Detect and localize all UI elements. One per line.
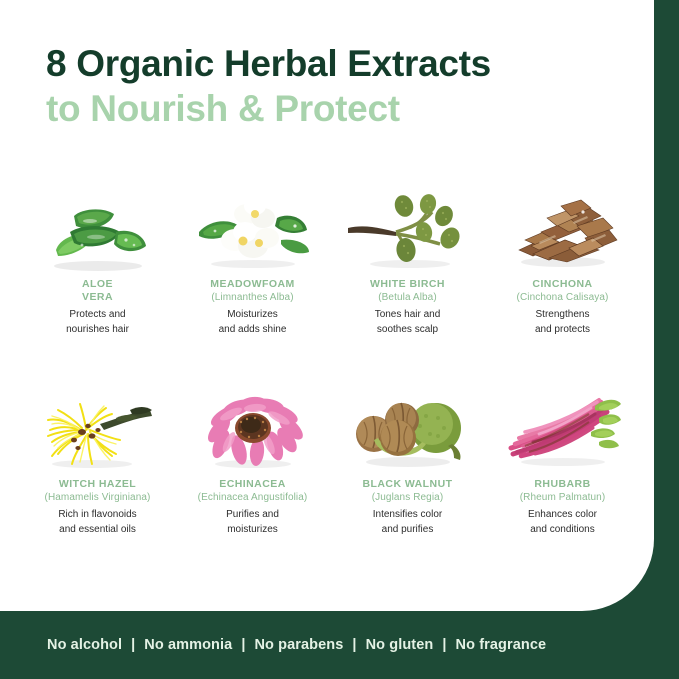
ingredient-desc-line1: Strengthens	[535, 308, 590, 323]
ingredient-name: WHITE BIRCH	[370, 278, 445, 291]
ingredient-description: Enhances color and conditions	[528, 508, 597, 537]
ingredient-card-black-walnut: BLACK WALNUT (Juglans Regia) Intensifies…	[330, 388, 485, 588]
ingredient-card-meadowfoam: MEADOWFOAM (Limnanthes Alba) Moisturizes…	[175, 188, 330, 388]
ingredient-description: Strengthens and protects	[535, 308, 590, 337]
ingredient-desc-line1: Protects and	[66, 308, 129, 323]
ingredient-desc-line1: Tones hair and	[375, 308, 441, 323]
ingredient-card-witch-hazel: WITCH HAZEL (Hamamelis Virginiana) Rich …	[20, 388, 175, 588]
ingredient-name: MEADOWFOAM	[210, 278, 294, 291]
ingredient-latin-name: (Betula Alba)	[378, 291, 437, 304]
claim-item: No parabens	[254, 637, 343, 653]
cinchona-bark-image	[495, 188, 631, 274]
ingredient-desc-line2: and conditions	[528, 523, 597, 538]
witch-hazel-flower-image	[30, 388, 166, 474]
page-header: 8 Organic Herbal Extracts to Nourish & P…	[46, 44, 636, 131]
ingredient-card-echinacea: ECHINACEA (Echinacea Angustifolia) Purif…	[175, 388, 330, 588]
page-subtitle: to Nourish & Protect	[46, 88, 636, 131]
ingredient-card-rhubarb: RHUBARB (Rheum Palmatun) Enhances color …	[485, 388, 640, 588]
ingredient-description: Rich in flavonoids and essential oils	[58, 508, 136, 537]
ingredient-name: WITCH HAZEL	[59, 478, 136, 491]
black-walnut-image	[340, 388, 476, 474]
ingredient-name-line2: VERA	[82, 291, 113, 303]
ingredient-card-aloe-vera: ALOE VERA Protects and nourishes hair	[20, 188, 175, 388]
echinacea-flower-image	[185, 388, 321, 474]
claim-separator: |	[352, 637, 356, 653]
ingredient-desc-line2: moisturizes	[226, 523, 279, 538]
ingredient-latin-name: (Echinacea Angustifolia)	[198, 491, 308, 504]
ingredient-name: RHUBARB	[534, 478, 590, 491]
aloe-vera-leaves-image	[30, 188, 166, 274]
ingredient-name: BLACK WALNUT	[363, 478, 453, 491]
ingredient-description: Purifies and moisturizes	[226, 508, 279, 537]
white-birch-catkins-image	[340, 188, 476, 274]
ingredient-card-cinchona: CINCHONA (Cinchona Calisaya) Strengthens…	[485, 188, 640, 388]
ingredient-latin-name: (Limnanthes Alba)	[211, 291, 293, 304]
ingredient-desc-line2: nourishes hair	[66, 323, 129, 338]
ingredient-desc-line1: Purifies and	[226, 508, 279, 523]
ingredient-desc-line2: soothes scalp	[375, 323, 441, 338]
claim-item: No gluten	[366, 637, 434, 653]
ingredient-latin-name: (Hamamelis Virginiana)	[45, 491, 151, 504]
ingredient-latin-name: (Rheum Palmatun)	[520, 491, 606, 504]
meadowfoam-flower-image	[185, 188, 321, 274]
claim-separator: |	[442, 637, 446, 653]
ingredient-desc-line1: Intensifies color	[373, 508, 442, 523]
ingredient-description: Intensifies color and purifies	[373, 508, 442, 537]
page-title: 8 Organic Herbal Extracts	[46, 44, 636, 84]
content-card: 8 Organic Herbal Extracts to Nourish & P…	[0, 0, 654, 611]
ingredient-description: Tones hair and soothes scalp	[375, 308, 441, 337]
claims-list: No alcohol | No ammonia | No parabens | …	[47, 637, 546, 653]
ingredient-desc-line2: and essential oils	[58, 523, 136, 538]
ingredient-name: ECHINACEA	[219, 478, 285, 491]
ingredient-name: ALOE VERA	[82, 278, 113, 304]
ingredient-grid: ALOE VERA Protects and nourishes hair	[20, 188, 640, 588]
ingredient-desc-line1: Enhances color	[528, 508, 597, 523]
infographic-poster: 8 Organic Herbal Extracts to Nourish & P…	[0, 0, 679, 679]
rhubarb-stalks-image	[495, 388, 631, 474]
ingredient-description: Moisturizes and adds shine	[219, 308, 287, 337]
ingredient-name: CINCHONA	[532, 278, 592, 291]
claim-item: No ammonia	[144, 637, 232, 653]
claim-separator: |	[241, 637, 245, 653]
claim-item: No fragrance	[456, 637, 547, 653]
ingredient-desc-line1: Moisturizes	[219, 308, 287, 323]
ingredient-name-line1: ALOE	[82, 278, 113, 290]
claim-item: No alcohol	[47, 637, 122, 653]
ingredient-latin-name: (Juglans Regia)	[372, 491, 444, 504]
ingredient-description: Protects and nourishes hair	[66, 308, 129, 337]
ingredient-latin-name: (Cinchona Calisaya)	[517, 291, 609, 304]
ingredient-card-white-birch: WHITE BIRCH (Betula Alba) Tones hair and…	[330, 188, 485, 388]
ingredient-desc-line2: and purifies	[373, 523, 442, 538]
footer-claims-band: No alcohol | No ammonia | No parabens | …	[0, 610, 679, 679]
ingredient-desc-line2: and protects	[535, 323, 590, 338]
ingredient-desc-line1: Rich in flavonoids	[58, 508, 136, 523]
ingredient-desc-line2: and adds shine	[219, 323, 287, 338]
claim-separator: |	[131, 637, 135, 653]
